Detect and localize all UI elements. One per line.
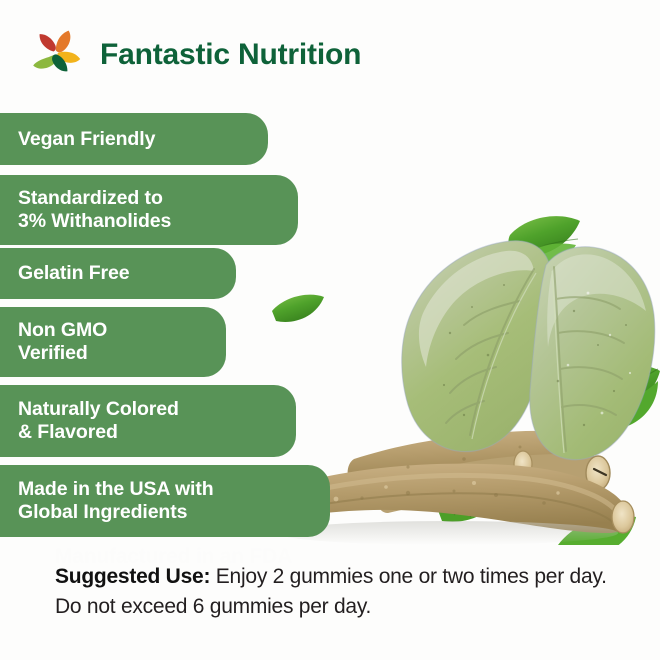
brand-header: Fantastic Nutrition: [28, 26, 361, 84]
ground-shadow: [278, 521, 618, 545]
badge-line: Gelatin Free: [18, 262, 130, 285]
suggested-use-paragraph: Suggested Use: Enjoy 2 gummies one or tw…: [55, 562, 635, 622]
badge-gelatin-free: Gelatin Free: [0, 248, 236, 299]
suggested-use-label: Suggested Use:: [55, 565, 210, 588]
background-leaves: [272, 216, 660, 545]
badge-text: Naturally Colored& Flavored: [18, 398, 179, 444]
infographic-canvas: Fantastic Nutrition: [0, 0, 660, 660]
badge-line: Global Ingredients: [18, 501, 214, 524]
pinwheel-flower-logo-icon: [28, 26, 86, 84]
badge-made-in-usa: Made in the USA withGlobal Ingredients: [0, 465, 330, 537]
brand-title: Fantastic Nutrition: [100, 40, 361, 70]
badge-standardized: Standardized to3% Withanolides: [0, 175, 298, 245]
leaf-gummies: [402, 241, 655, 460]
badge-text: Gelatin Free: [18, 262, 130, 285]
badge-line: Standardized to: [18, 187, 171, 210]
badge-line: Naturally Colored: [18, 398, 179, 421]
badge-non-gmo-verified: Non GMOVerified: [0, 307, 226, 377]
badge-line: Vegan Friendly: [18, 128, 155, 151]
badge-text: Vegan Friendly: [18, 128, 155, 151]
badge-text: Standardized to3% Withanolides: [18, 187, 171, 233]
badge-text: Non GMOVerified: [18, 319, 107, 365]
badge-line: 3% Withanolides: [18, 210, 171, 233]
badge-line: Verified: [18, 342, 107, 365]
badge-naturally-colored: Naturally Colored& Flavored: [0, 385, 296, 457]
badge-line: Made in the USA with: [18, 478, 214, 501]
badge-vegan-friendly: Vegan Friendly: [0, 113, 268, 165]
badge-line: & Flavored: [18, 421, 179, 444]
badge-line: Non GMO: [18, 319, 107, 342]
badge-text: Made in the USA withGlobal Ingredients: [18, 478, 214, 524]
